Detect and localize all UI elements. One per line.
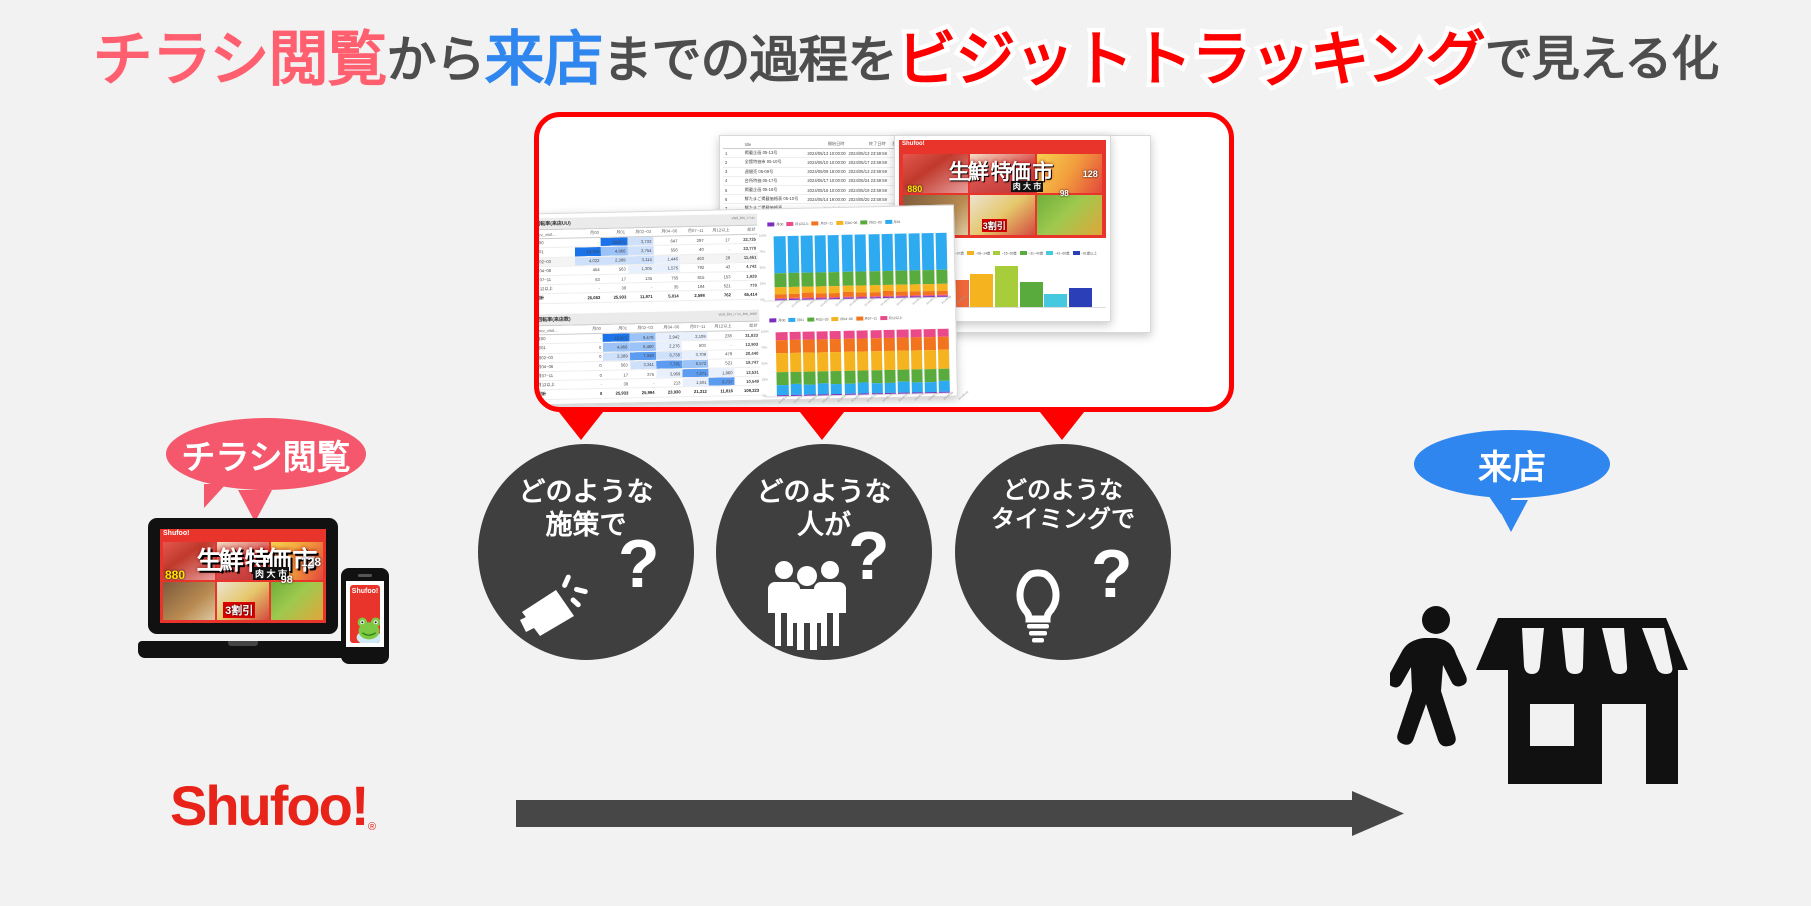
pivot-table-uu: prev_visit... 月00 月01 月02~03 月04~06 月07~… [539, 226, 759, 304]
laptop-device: Shufoo! 生鮮 特価 市 肉 大 市 880 128 98 3割引 [138, 518, 348, 658]
chart-bar [882, 234, 895, 298]
megaphone-icon [508, 554, 598, 644]
chart-bar [830, 331, 843, 395]
stacked-chart-uu: 月00 月12以上 月07~11 月04~06 月02~03 月01 100% … [757, 210, 951, 306]
title-part-store-visit: 来店 [485, 30, 603, 90]
chart-bar-segment [829, 272, 841, 286]
chart-bar-segment [804, 371, 816, 384]
chart-bar-segment [802, 273, 814, 287]
table-a-metric: visit_bin_i / uu [732, 216, 755, 223]
chart-bar-segment [817, 383, 829, 395]
legend-item: 月02~03 [860, 213, 882, 231]
connector-arrow-1 [555, 407, 607, 440]
chart-bar-segment [831, 383, 842, 394]
frog-mascot-icon [350, 609, 380, 643]
legend-item: 月02~03 [807, 310, 829, 328]
question-circle-timing: どのような タイミングで ? [955, 444, 1171, 660]
chart-bar-segment [857, 370, 869, 382]
store-visit-label: 来店 [1478, 440, 1546, 489]
people-icon [764, 554, 860, 650]
laptop-flyer-price: 880 [165, 568, 185, 582]
legend-item: 月04~06 [831, 310, 853, 328]
flyer-price-tag: 3割引 [982, 219, 1007, 232]
infographic-canvas: チラシ閲覧から来店までの過程をビジットトラッキングで見える化 title 開始日… [0, 0, 1811, 906]
legend-item: 月01 [885, 213, 901, 231]
question-mark: ? [618, 530, 660, 598]
chart-bar-segment [882, 234, 894, 271]
table-b-metric: visit_bin_i / cv_bin_total [719, 312, 757, 320]
chart-bar [937, 329, 950, 393]
chart-bar-segment [841, 235, 853, 272]
legend-item: 月07~11 [812, 214, 834, 232]
legend-item: 月07~11 [856, 309, 878, 327]
chart-bar-segment [803, 339, 815, 353]
chart-bar-segment [855, 234, 867, 271]
chart-bar [884, 330, 897, 394]
chart-bar-segment [843, 338, 855, 351]
chart-bar-segment [922, 233, 934, 270]
chart-bar [857, 330, 870, 394]
chart-bar [816, 331, 829, 395]
stacked-chart-visits: 月00 月01 月02~03 月04~06 月07~11 月12以上 100% … [759, 306, 953, 402]
chart-bar-segment [830, 339, 842, 352]
chart-bar [897, 330, 910, 394]
bubble-tail [204, 484, 226, 508]
chart-bar-segment [788, 273, 800, 287]
chart-bar-segment [774, 236, 786, 273]
chart-bar-segment [842, 272, 854, 286]
flyer-view-bubble: チラシ閲覧 [166, 418, 366, 490]
legend-item: 月00 [767, 215, 783, 233]
chart-bar-segment [803, 353, 815, 372]
chart-bar [924, 329, 937, 393]
title-part-flyer-view: チラシ閲覧 [93, 30, 387, 90]
chart-bar [841, 235, 854, 299]
chart-bar-segment [776, 340, 788, 353]
table-a-title: 回転率(来店UU) [539, 220, 571, 228]
chart-bar [828, 235, 841, 299]
chart-bar-segment [938, 336, 950, 350]
chart-bar-segment [898, 369, 910, 381]
chart-bar-segment [911, 337, 923, 350]
chart-bar-segment [868, 234, 880, 271]
chart-bar-segment [815, 272, 827, 286]
chart-bar-segment [897, 350, 909, 369]
flyer-brand: Shufoo! [902, 141, 925, 147]
chart-bar-segment [925, 369, 937, 382]
chart-bar-segment [923, 270, 935, 284]
chart-bar-segment [857, 351, 869, 370]
legend-item: ~31~40歳 [1020, 244, 1043, 262]
laptop-flyer-image: Shufoo! 生鮮 特価 市 肉 大 市 880 128 98 3割引 [160, 529, 326, 623]
chart-bar-segment [897, 337, 909, 350]
connector-arrow-2 [796, 407, 848, 440]
chart-bar-segment [884, 370, 896, 383]
store-visit-arrow [1494, 500, 1528, 532]
question-circle-measures: どのような 施策で ? [478, 444, 694, 660]
chart-plot-area [762, 233, 951, 302]
app-name-label: Shufoo! [350, 588, 380, 595]
flyer-sub-headline: 肉 大 市 [1011, 181, 1043, 192]
chart-bar-segment [938, 350, 950, 369]
legend-item: 月12以上 [786, 215, 809, 233]
connector-arrow-3 [1036, 407, 1088, 440]
chart-bar [910, 329, 923, 393]
circle-text: どのような タイミングで [955, 476, 1171, 535]
circle-text: どのような 人が [716, 476, 932, 542]
chart-bar-segment [775, 273, 787, 287]
shufoo-logo: Shufoo! ® [170, 778, 385, 840]
col-title: title [743, 140, 806, 149]
question-mark: ? [1091, 540, 1133, 608]
chart-bar-segment [935, 233, 947, 270]
phone-speaker [358, 574, 372, 577]
laptop-flyer-brand: Shufoo! [163, 530, 189, 537]
legend-item: 月01 [788, 311, 804, 329]
storefront-icon [1476, 618, 1688, 784]
chart-bar [789, 332, 802, 396]
circle-text: どのような 施策で [478, 476, 694, 542]
dashboard-panel: title 開始日時 終了日時 配信店舗数 閲覧数 来店率関連1 来店率関連2 … [534, 112, 1234, 412]
chart-bar-segment [909, 270, 921, 284]
svg-text:Shufoo!: Shufoo! [170, 778, 367, 837]
chart-bar [922, 233, 935, 297]
col-end: 終了日時 [847, 140, 888, 149]
chart-bar-segment [804, 384, 815, 395]
svg-text:®: ® [368, 821, 376, 833]
chart-bar-segment [938, 368, 950, 380]
chart-bar-segment [908, 233, 920, 270]
chart-bar-segment [871, 370, 883, 383]
chart-bar-segment [844, 370, 856, 383]
chart-bar-segment [924, 349, 936, 368]
laptop-flyer-price: 3割引 [223, 602, 255, 618]
chart-bar-segment [817, 352, 829, 371]
legend-item: 月12以上 [880, 309, 903, 327]
chart-bar-segment [871, 351, 883, 370]
screenshot-pivot-report: 回転率(来店UU) visit_bin_i / uu prev_visit...… [539, 205, 958, 406]
flyer-price-tag: 98 [1060, 189, 1069, 198]
chart-bar-segment [790, 352, 802, 371]
title-part-process: までの過程を [603, 35, 897, 85]
chart-bar [935, 233, 948, 297]
title-part-from: から [387, 35, 485, 85]
chart-bar [801, 236, 814, 300]
legend-item: ~41~60歳 [1046, 244, 1069, 262]
chart-bar-segment [817, 371, 829, 383]
chart-bar-segment [831, 371, 843, 384]
chart-bar-segment [830, 351, 842, 370]
chart-bar-segment [777, 372, 789, 385]
journey-arrow [516, 791, 1404, 836]
chart-bar-segment [801, 236, 813, 273]
chart-bar-segment [896, 271, 908, 285]
chart-bar-segment [776, 353, 788, 372]
chart-bar [803, 332, 816, 396]
chart-bar [774, 236, 787, 300]
chart-bar-segment [882, 271, 894, 285]
flyer-price-tag: 128 [1083, 169, 1098, 179]
chart-bar-segment [844, 351, 856, 370]
chart-bar-segment [870, 338, 882, 352]
smartphone-device: Shufoo! [341, 568, 389, 664]
flyer-price-tag: 880 [907, 184, 922, 194]
chart-bar-segment [924, 337, 936, 350]
chart-bar [787, 236, 800, 300]
chart-bar-segment [895, 234, 907, 271]
chart-bar [776, 332, 789, 396]
chart-bar [855, 234, 868, 298]
chart-bar [895, 234, 908, 298]
chart-bar-segment [816, 339, 828, 352]
chart-x-tick: 2024年4月 [957, 390, 969, 401]
table-b-title: 回転率(来店数) [539, 316, 571, 324]
legend-item: ~61歳以上 [1073, 244, 1097, 262]
col-start: 開始日時 [805, 140, 846, 149]
flyer-view-label: チラシ閲覧 [181, 430, 350, 479]
legend-item: 月00 [770, 311, 786, 329]
chart-bar-segment [911, 350, 923, 369]
legend-item: ~08~14歳 [967, 244, 990, 262]
walking-person-icon [1390, 606, 1467, 746]
page-title: チラシ閲覧から来店までの過程をビジットトラッキングで見える化 [0, 26, 1811, 90]
chart-bar [870, 330, 883, 394]
legend-item: 月04~06 [836, 214, 858, 232]
shufoo-app-icon: Shufoo! [350, 585, 380, 643]
chart-bar-segment [790, 340, 802, 353]
chart-bar-segment [857, 338, 869, 351]
store-visit-illustration [1390, 598, 1690, 784]
lightbulb-icon [997, 562, 1079, 644]
chart-bar-segment [814, 235, 826, 272]
title-part-visit-tracking: ビジットトラッキング [897, 30, 1485, 90]
legend-item: ~15~30歳 [993, 244, 1016, 262]
laptop-flyer-price: 98 [281, 574, 293, 586]
chart-bar-segment [855, 272, 867, 286]
chart-bar [814, 235, 827, 299]
laptop-flyer-price: 128 [301, 555, 321, 569]
chart-bar [843, 331, 856, 395]
chart-bar [868, 234, 881, 298]
title-part-visualize: で見える化 [1485, 36, 1719, 84]
chart-bar [908, 233, 921, 297]
chart-bar-segment [936, 270, 948, 284]
chart-bar-segment [828, 235, 840, 272]
chart-bar-segment [787, 236, 799, 273]
chart-bar-segment [884, 338, 896, 351]
pivot-table-visits: prev_visit... 月00 月01 月02~03 月04~06 月07~… [539, 322, 761, 400]
chart-plot-area [764, 329, 953, 398]
chart-bar-segment [790, 371, 802, 383]
store-visit-bubble: 来店 [1414, 430, 1610, 498]
chart-bar-segment [869, 271, 881, 285]
question-circle-audience: どのような 人が ? [716, 444, 932, 660]
chart-bar-segment [884, 350, 896, 369]
chart-bar-segment [938, 381, 950, 393]
chart-bar-segment [911, 369, 923, 382]
